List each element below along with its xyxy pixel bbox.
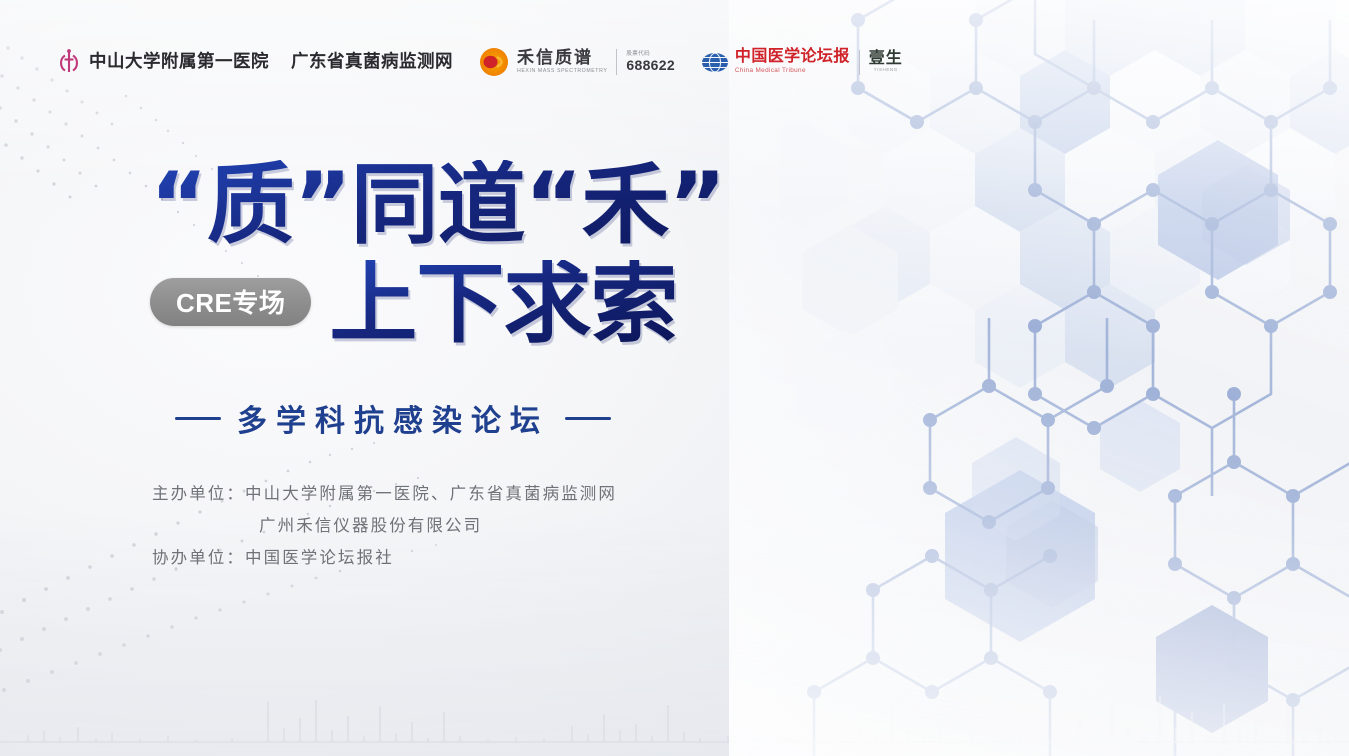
- hexin-name-cn: 禾信质谱: [517, 49, 607, 67]
- cmt-name-en: China Medical Tribune: [735, 67, 850, 75]
- organizer-block: 主办单位：中山大学附属第一医院、广东省真菌病监测网 广州禾信仪器股份有限公司 协…: [152, 478, 617, 574]
- hexin-stock-block: 股票代码 688622: [626, 51, 675, 73]
- background-sheen: [0, 0, 1349, 756]
- subtitle-text: 多学科抗感染论坛: [237, 396, 549, 440]
- china-medical-tribune-logo: 中国医学论坛报 China Medical Tribune 壹生 YISHENG: [701, 48, 903, 75]
- honeycomb-cluster-pattern: [0, 0, 1349, 756]
- title-row-2: CRE专场 上下求索: [150, 260, 810, 348]
- mass-spectrum-baseline: [0, 0, 1349, 756]
- main-title-block: “质”同道“禾” CRE专场 上下求索: [150, 160, 810, 348]
- radiating-dot-pattern: [0, 0, 1349, 756]
- hexin-logo: 禾信质谱 HEXIN MASS SPECTROMETRY 股票代码 688622: [477, 45, 675, 79]
- cmt-globe-icon: [701, 52, 729, 73]
- hexin-name-en: HEXIN MASS SPECTROMETRY: [517, 68, 607, 75]
- subtitle-dash-left: [175, 417, 221, 420]
- guangdong-fungal-network-name: 广东省真菌病监测网: [291, 53, 453, 71]
- sysu-hospital-name: 中山大学附属第一医院: [89, 53, 269, 71]
- yisheng-name-cn: 壹生: [869, 50, 903, 66]
- organizer-line-3: 协办单位：中国医学论坛报社: [152, 542, 617, 574]
- sysu-crest-icon: [56, 48, 82, 76]
- sponsor-logo-bar: 中山大学附属第一医院 广东省真菌病监测网 禾信质谱 HEXIN MASS SPE…: [56, 40, 903, 84]
- forum-subtitle: 多学科抗感染论坛: [175, 396, 611, 440]
- hexin-divider: [616, 49, 617, 75]
- cmt-name-cn: 中国医学论坛报: [735, 48, 850, 65]
- sysu-hospital-logo: 中山大学附属第一医院: [56, 48, 269, 76]
- cre-session-badge: CRE专场: [150, 278, 311, 326]
- background-right-wash: [729, 0, 1349, 756]
- cmt-name-block: 中国医学论坛报 China Medical Tribune: [735, 48, 850, 75]
- title-line-1: “质”同道“禾”: [150, 160, 810, 250]
- organizer-line-2: 广州禾信仪器股份有限公司: [152, 510, 617, 542]
- title-line-2: 上下求索: [329, 260, 677, 348]
- yisheng-logo: 壹生 YISHENG: [869, 50, 903, 73]
- subtitle-dash-right: [565, 417, 611, 420]
- poster-canvas: 中山大学附属第一医院 广东省真菌病监测网 禾信质谱 HEXIN MASS SPE…: [0, 0, 1349, 756]
- yisheng-name-en: YISHENG: [874, 67, 898, 73]
- hexagon-network-pattern: [0, 0, 1349, 756]
- hexin-sun-logo-icon: [477, 45, 511, 79]
- stock-code-value: 688622: [626, 58, 675, 73]
- hexin-name-block: 禾信质谱 HEXIN MASS SPECTROMETRY: [517, 49, 607, 75]
- cmt-divider: [859, 50, 860, 75]
- organizer-line-1: 主办单位：中山大学附属第一医院、广东省真菌病监测网: [152, 478, 617, 510]
